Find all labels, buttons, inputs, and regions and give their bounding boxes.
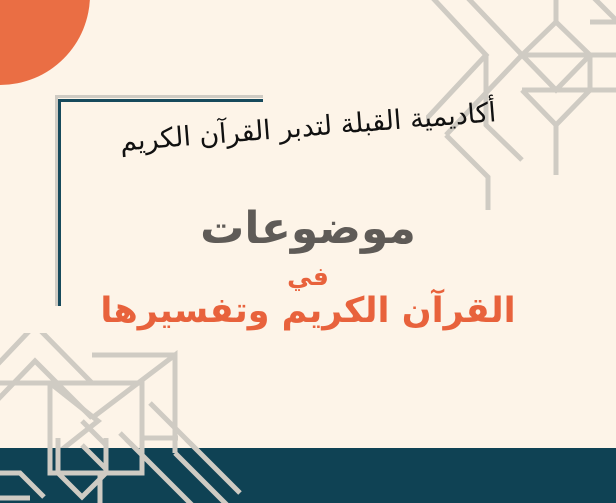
page-title: موضوعات — [0, 203, 616, 254]
bracket-shadow-horizontal — [55, 95, 263, 98]
page-subtitle: القرآن الكريم وتفسيرها — [0, 291, 616, 331]
title-connector-word: في — [0, 262, 616, 291]
bracket-line-horizontal — [58, 99, 263, 102]
footer-band — [0, 448, 616, 503]
poster-canvas: أكاديمية القبلة لتدبر القرآن الكريم موضو… — [0, 0, 616, 503]
